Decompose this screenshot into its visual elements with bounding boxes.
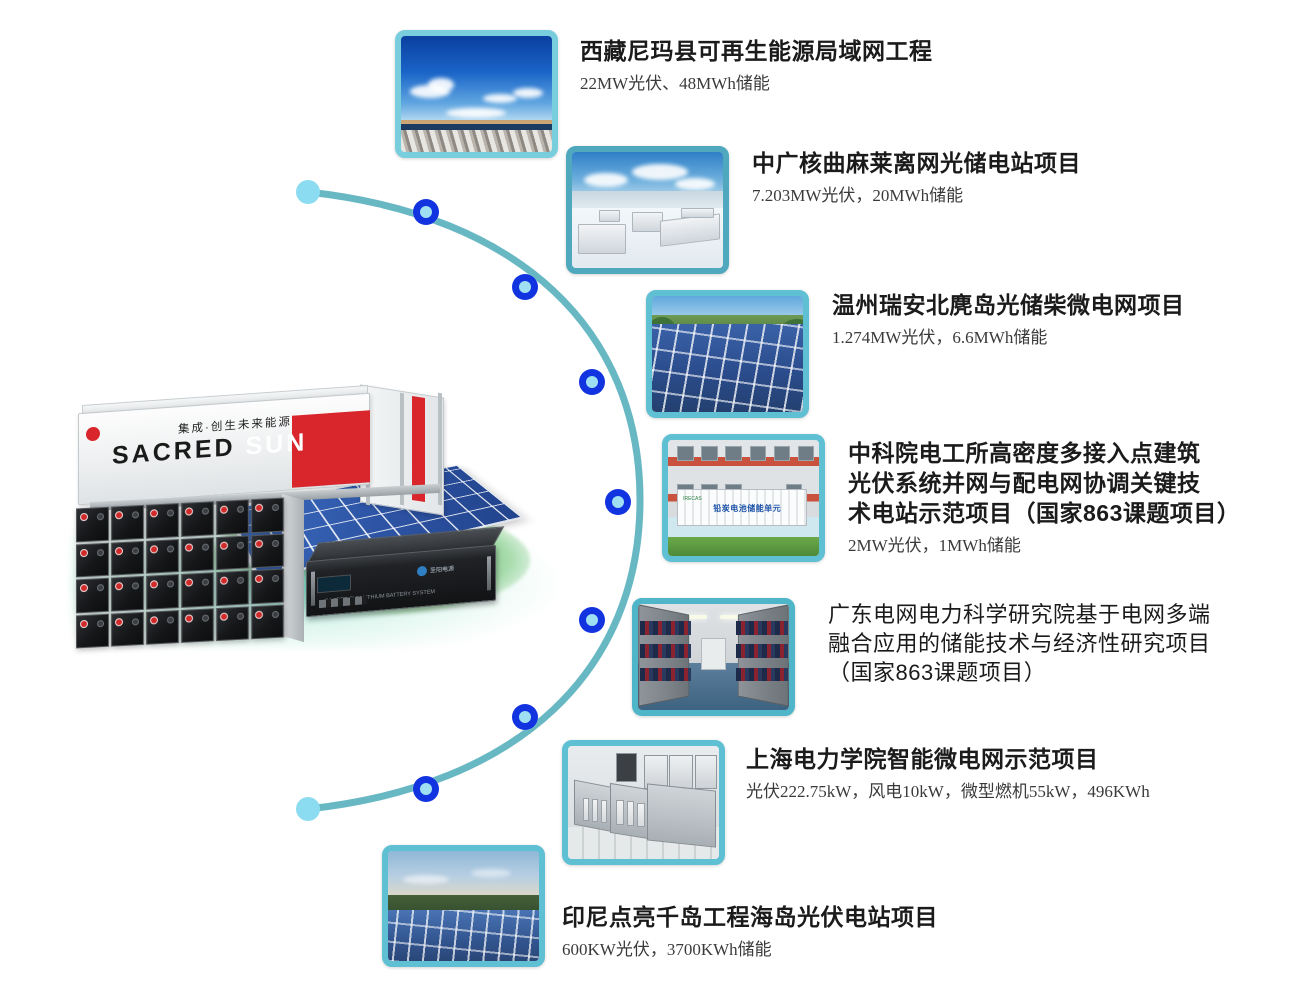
battery-row xyxy=(640,621,691,635)
project-title: 广东电网电力科学研究院基于电网多端 融合应用的储能技术与经济性研究项目 （国家8… xyxy=(828,600,1298,687)
battery-cell xyxy=(146,503,179,538)
battery-cell xyxy=(181,537,214,572)
arc-node-7[interactable] xyxy=(413,776,439,802)
project-title: 西藏尼玛县可再生能源局域网工程 xyxy=(580,36,1120,66)
cloud-icon xyxy=(632,164,688,180)
battery-cell xyxy=(216,535,249,570)
room-door xyxy=(701,638,725,670)
battery-cabinet xyxy=(647,783,716,847)
project-title: 中科院电工所高密度多接入点建筑 光伏系统并网与配电网协调关键技 术电站示范项目（… xyxy=(848,438,1298,528)
arc-node-5[interactable] xyxy=(579,607,605,633)
battery-container xyxy=(632,212,662,232)
battery-cell xyxy=(627,801,635,826)
battery-cell xyxy=(216,606,249,641)
battery-cell xyxy=(146,539,179,574)
container-label-text: 铅炭电池储能单元 xyxy=(713,503,781,514)
project-subtitle: 光伏222.75kW，风电10kW，微型燃机55kW，496KWh xyxy=(746,780,1286,803)
project-thumb-indonesia-islands[interactable] xyxy=(382,845,545,967)
battery-cell xyxy=(601,800,607,823)
battery-cell xyxy=(111,611,144,646)
container-rear-text: 新能源储能系统 xyxy=(411,412,422,491)
battery-row xyxy=(736,668,787,682)
project-thumb-shanghai-electric-power[interactable] xyxy=(562,740,725,865)
pv-field xyxy=(652,324,803,412)
battery-cell xyxy=(251,604,284,639)
battery-cell xyxy=(181,572,214,607)
container-logo-text: IRECAS xyxy=(683,496,702,502)
control-panel xyxy=(616,753,637,782)
project-subtitle: 600KW光伏，3700KWh储能 xyxy=(562,938,1102,961)
battery-cell xyxy=(251,498,284,533)
battery-cell xyxy=(181,608,214,643)
battery-wall-side xyxy=(282,494,304,642)
battery-row xyxy=(736,621,787,635)
rack-display-screen xyxy=(317,574,351,593)
project-subtitle: 7.203MW光伏，20MWh储能 xyxy=(752,184,1292,207)
photo-desert-solar-farm xyxy=(401,36,552,152)
cloud-icon xyxy=(584,173,628,187)
cloud-icon xyxy=(471,869,511,877)
brand-suffix: SUN xyxy=(246,428,308,460)
control-panel xyxy=(669,755,693,789)
battery-cell xyxy=(181,501,214,536)
battery-cell xyxy=(616,800,624,825)
project-entry-guangdong-grid: 广东电网电力科学研究院基于电网多端 融合应用的储能技术与经济性研究项目 （国家8… xyxy=(828,600,1298,693)
battery-cell xyxy=(251,569,284,604)
battery-cell xyxy=(111,505,144,540)
project-title: 温州瑞安北麂岛光储柴微电网项目 xyxy=(832,290,1300,320)
building-window xyxy=(677,446,694,461)
project-subtitle: 1.274MW光伏，6.6MWh储能 xyxy=(832,326,1300,349)
project-thumb-guangdong-grid[interactable] xyxy=(632,598,795,716)
battery-container xyxy=(599,210,620,222)
building-window xyxy=(701,446,718,461)
battery-row xyxy=(736,644,787,658)
project-entry-indonesia-islands: 印尼点亮千岛工程海岛光伏电站项目 600KW光伏，3700KWh储能 xyxy=(562,902,1102,961)
project-thumb-cas-863[interactable]: IRECAS 铅炭电池储能单元 xyxy=(662,434,825,562)
battery-cell xyxy=(76,507,109,542)
rack-handle-right xyxy=(487,556,491,590)
photo-hillside-pv-array xyxy=(652,296,803,412)
arc-endcap-top xyxy=(296,180,320,204)
pv-field xyxy=(388,910,539,961)
cloud-icon xyxy=(428,78,454,92)
building-window xyxy=(725,446,742,461)
battery-cell xyxy=(637,803,645,828)
battery-cell xyxy=(216,499,249,534)
project-title: 中广核曲麻莱离网光储电站项目 xyxy=(752,148,1292,178)
project-entry-cgn-qumalai: 中广核曲麻莱离网光储电站项目 7.203MW光伏，20MWh储能 xyxy=(752,148,1292,207)
project-entry-wenzhou-beilu: 温州瑞安北麂岛光储柴微电网项目 1.274MW光伏，6.6MWh储能 xyxy=(832,290,1300,349)
control-panel xyxy=(695,755,718,789)
project-entry-cas-863: 中科院电工所高密度多接入点建筑 光伏系统并网与配电网协调关键技 术电站示范项目（… xyxy=(848,438,1298,557)
project-thumb-wenzhou-beilu[interactable] xyxy=(646,290,809,418)
battery-row xyxy=(640,668,691,682)
battery-cell xyxy=(592,799,598,822)
cloud-icon xyxy=(446,108,506,118)
rack-brand-text: 圣阳电源 xyxy=(430,563,454,574)
building-window xyxy=(798,446,815,461)
photo-battery-room xyxy=(638,604,789,710)
rack-handle-left xyxy=(311,572,315,606)
infographic-canvas: 新能源储能系统 集成·创生未来能源 SACRED SUN xyxy=(0,0,1300,1004)
hero-product-composite: 新能源储能系统 集成·创生未来能源 SACRED SUN xyxy=(60,385,580,650)
project-thumb-cgn-qumalai[interactable] xyxy=(566,146,729,274)
arc-node-3[interactable] xyxy=(579,369,605,395)
arc-node-2[interactable] xyxy=(512,274,538,300)
battery-cell xyxy=(111,576,144,611)
battery-row xyxy=(640,644,691,658)
battery-cell xyxy=(76,613,109,648)
battery-cell xyxy=(76,542,109,577)
project-entry-tibet-nima: 西藏尼玛县可再生能源局域网工程 22MW光伏、48MWh储能 xyxy=(580,36,1120,95)
battery-cell xyxy=(146,610,179,645)
cloud-icon xyxy=(675,178,715,190)
battery-container xyxy=(681,208,714,218)
project-title: 上海电力学院智能微电网示范项目 xyxy=(746,744,1286,774)
photo-island-pv-field xyxy=(388,851,539,961)
project-title: 印尼点亮千岛工程海岛光伏电站项目 xyxy=(562,902,1102,932)
battery-cell xyxy=(146,574,179,609)
project-subtitle: 22MW光伏、48MWh储能 xyxy=(580,72,1120,95)
arc-endcap-bottom xyxy=(296,797,320,821)
battery-cell xyxy=(111,540,144,575)
arc-node-1[interactable] xyxy=(413,199,439,225)
battery-cell xyxy=(251,533,284,568)
battery-cell xyxy=(583,798,589,821)
photo-indoor-equipment-room xyxy=(568,746,719,859)
battery-container xyxy=(578,224,626,254)
photo-snow-plateau-containers xyxy=(572,152,723,268)
battery-cell xyxy=(76,578,109,613)
rack-brand-icon xyxy=(417,566,427,577)
arc-node-4[interactable] xyxy=(605,489,631,515)
project-subtitle: 2MW光伏，1MWh储能 xyxy=(848,534,1298,557)
cloud-icon xyxy=(483,94,517,103)
building-window xyxy=(750,446,767,461)
grass-lawn xyxy=(668,537,819,556)
building-window xyxy=(774,446,791,461)
arc-node-6[interactable] xyxy=(512,704,538,730)
photo-lead-carbon-container: IRECAS 铅炭电池储能单元 xyxy=(668,440,819,556)
project-thumb-tibet-nima[interactable] xyxy=(395,30,558,158)
battery-cell xyxy=(216,570,249,605)
battery-wall xyxy=(76,498,284,649)
foreground-panels xyxy=(401,130,552,152)
project-entry-shanghai-electric-power: 上海电力学院智能微电网示范项目 光伏222.75kW，风电10kW，微型燃机55… xyxy=(746,744,1286,803)
